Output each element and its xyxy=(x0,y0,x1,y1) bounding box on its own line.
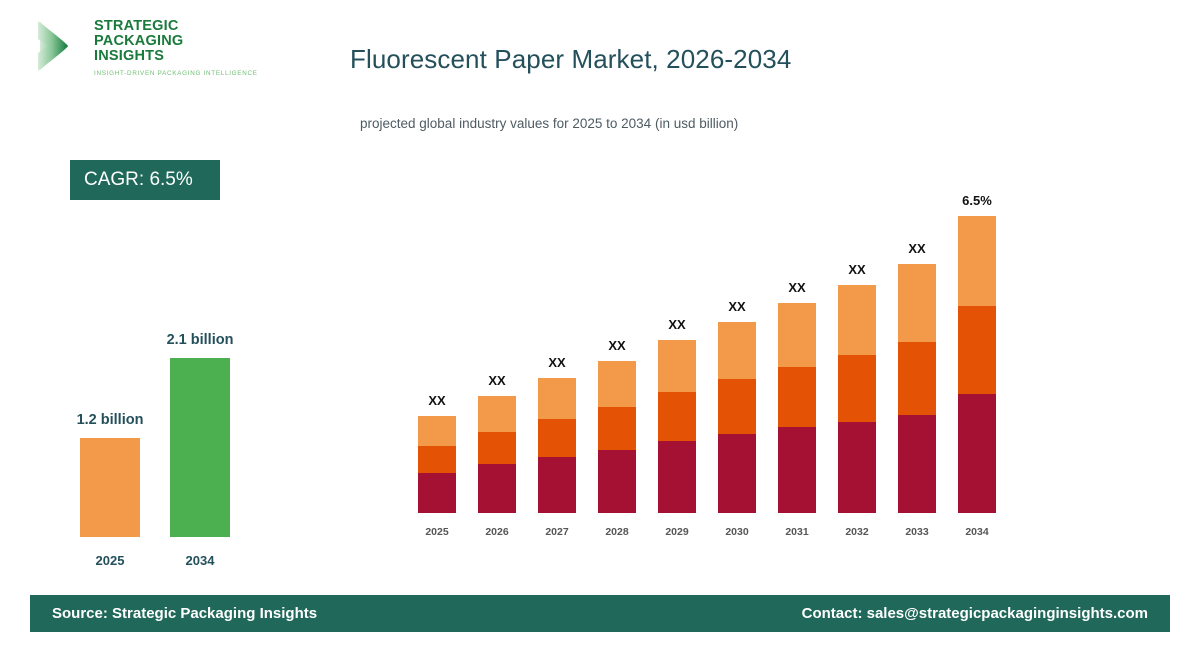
stacked-bar-label-2026: XX xyxy=(462,373,532,388)
brand-logo-line1: STRATEGIC xyxy=(94,19,254,34)
stacked-bar-label-2032: XX xyxy=(822,262,892,277)
stacked-segment-middle-2033 xyxy=(898,342,936,415)
chevron-right-icon xyxy=(32,20,88,72)
stacked-segment-bottom-2032 xyxy=(838,422,876,513)
stacked-segment-top-2031 xyxy=(778,303,816,367)
stacked-segment-middle-2032 xyxy=(838,355,876,422)
stacked-bar-year-2028: 2028 xyxy=(592,526,642,538)
brand-logo-tagline: INSIGHT-DRIVEN PACKAGING INTELLIGENCE xyxy=(94,70,254,77)
stacked-segment-bottom-2031 xyxy=(778,427,816,513)
stacked-bar-label-2033: XX xyxy=(882,241,952,256)
stacked-segment-top-2033 xyxy=(898,264,936,342)
infographic-canvas: STRATEGIC PACKAGING INSIGHTS INSIGHT-DRI… xyxy=(0,0,1200,650)
stacked-bar-2029 xyxy=(658,340,696,513)
comparison-bar-2025 xyxy=(80,438,140,537)
stacked-segment-middle-2025 xyxy=(418,446,456,473)
stacked-segment-top-2028 xyxy=(598,361,636,407)
stacked-segment-top-2026 xyxy=(478,396,516,432)
stacked-segment-top-2025 xyxy=(418,416,456,446)
stacked-segment-bottom-2029 xyxy=(658,441,696,513)
stacked-bar-label-2031: XX xyxy=(762,280,832,295)
stacked-segment-bottom-2030 xyxy=(718,434,756,513)
stacked-bar-label-2034: 6.5% xyxy=(942,193,1012,208)
stacked-bar-2034 xyxy=(958,216,996,513)
stacked-segment-middle-2027 xyxy=(538,419,576,457)
stacked-bar-year-2025: 2025 xyxy=(412,526,462,538)
brand-logo: STRATEGIC PACKAGING INSIGHTS INSIGHT-DRI… xyxy=(32,16,252,78)
stacked-bar-2027 xyxy=(538,378,576,513)
stacked-bar-chart: XX2025XX2026XX2027XX2028XX2029XX2030XX20… xyxy=(400,190,1020,570)
stacked-segment-bottom-2028 xyxy=(598,450,636,513)
stacked-segment-middle-2028 xyxy=(598,407,636,450)
stacked-bar-label-2027: XX xyxy=(522,355,592,370)
comparison-bar-value-2034: 2.1 billion xyxy=(130,332,270,348)
comparison-bar-year-2034: 2034 xyxy=(170,553,230,568)
stacked-segment-bottom-2026 xyxy=(478,464,516,513)
cagr-badge-label: CAGR: 6.5% xyxy=(84,169,193,191)
stacked-segment-bottom-2027 xyxy=(538,457,576,513)
stacked-bar-2028 xyxy=(598,361,636,513)
stacked-bar-year-2029: 2029 xyxy=(652,526,702,538)
footer-bar: Source: Strategic Packaging Insights Con… xyxy=(30,595,1170,632)
stacked-segment-middle-2034 xyxy=(958,306,996,394)
stacked-bar-year-2031: 2031 xyxy=(772,526,822,538)
stacked-segment-middle-2026 xyxy=(478,432,516,464)
comparison-bar-2034 xyxy=(170,358,230,537)
stacked-segment-top-2029 xyxy=(658,340,696,392)
footer-source: Source: Strategic Packaging Insights xyxy=(52,595,317,632)
stacked-bar-label-2025: XX xyxy=(402,393,472,408)
stacked-bar-year-2033: 2033 xyxy=(892,526,942,538)
brand-logo-line2: PACKAGING INSIGHTS xyxy=(94,34,254,64)
stacked-bar-2033 xyxy=(898,264,936,513)
stacked-bar-label-2029: XX xyxy=(642,317,712,332)
page-subtitle: projected global industry values for 202… xyxy=(360,116,1120,131)
stacked-segment-top-2032 xyxy=(838,285,876,355)
stacked-bar-2026 xyxy=(478,396,516,513)
stacked-segment-bottom-2033 xyxy=(898,415,936,513)
stacked-segment-top-2030 xyxy=(718,322,756,379)
stacked-segment-middle-2031 xyxy=(778,367,816,427)
stacked-segment-bottom-2034 xyxy=(958,394,996,513)
cagr-badge: CAGR: 6.5% xyxy=(70,160,220,200)
stacked-segment-top-2034 xyxy=(958,216,996,306)
stacked-segment-bottom-2025 xyxy=(418,473,456,513)
stacked-bar-year-2027: 2027 xyxy=(532,526,582,538)
page-title: Fluorescent Paper Market, 2026-2034 xyxy=(350,44,1110,75)
stacked-segment-top-2027 xyxy=(538,378,576,419)
stacked-bar-label-2028: XX xyxy=(582,338,652,353)
comparison-bar-value-2025: 1.2 billion xyxy=(40,412,180,428)
stacked-bar-year-2026: 2026 xyxy=(472,526,522,538)
stacked-bar-label-2030: XX xyxy=(702,299,772,314)
stacked-bar-2031 xyxy=(778,303,816,513)
stacked-bar-2032 xyxy=(838,285,876,513)
stacked-bar-year-2034: 2034 xyxy=(952,526,1002,538)
stacked-segment-middle-2029 xyxy=(658,392,696,441)
stacked-bar-year-2030: 2030 xyxy=(712,526,762,538)
comparison-bar-year-2025: 2025 xyxy=(80,553,140,568)
brand-logo-text: STRATEGIC PACKAGING INSIGHTS INSIGHT-DRI… xyxy=(94,16,254,77)
stacked-bar-year-2032: 2032 xyxy=(832,526,882,538)
stacked-bar-2025 xyxy=(418,416,456,513)
stacked-segment-middle-2030 xyxy=(718,379,756,434)
footer-contact[interactable]: Contact: sales@strategicpackaginginsight… xyxy=(802,595,1148,632)
stacked-bar-2030 xyxy=(718,322,756,513)
comparison-bar-chart: 1.2 billion20252.1 billion2034 xyxy=(0,300,320,580)
